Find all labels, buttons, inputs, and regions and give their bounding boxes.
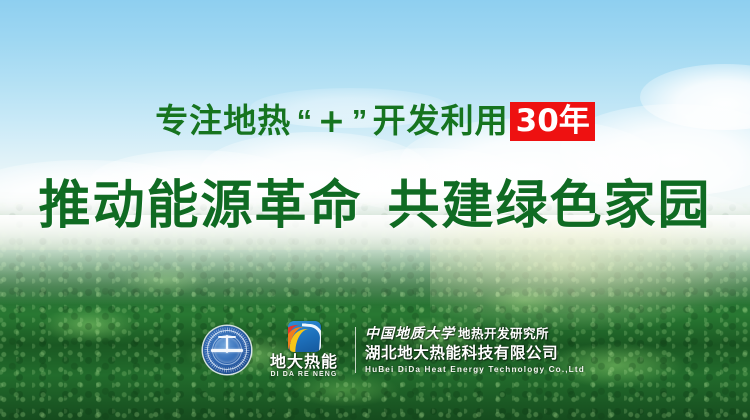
quote-close-mark: ” bbox=[351, 103, 369, 138]
company-name-cn: 湖北地大热能科技有限公司 bbox=[365, 343, 543, 363]
headline-line2-right: 共建绿色家园 bbox=[387, 176, 711, 236]
organization-text-block: 中国地质大学地热开发研究所 湖北地大热能科技有限公司 HuBei DiDa He… bbox=[365, 325, 543, 376]
footer-logo-strip: 地大热能 DI DA RE NENG 中国地质大学地热开发研究所 湖北地大热能科… bbox=[203, 320, 543, 380]
headline-line-1: 专注地热 “ + ” 开发利用30年 bbox=[0, 101, 750, 141]
headline-line1-part2: 开发利用 bbox=[373, 101, 509, 140]
institute-name: 地热开发研究所 bbox=[458, 326, 549, 341]
company-name-en: HuBei DiDa Heat Energy Technology Co.,Lt… bbox=[365, 363, 543, 376]
university-name: 中国地质大学 bbox=[365, 326, 455, 342]
quote-open-mark: “ bbox=[296, 103, 314, 138]
promotional-banner: 专注地热 “ + ” 开发利用30年 推动能源革命 共建绿色家园 bbox=[0, 0, 750, 420]
years-badge: 30年 bbox=[510, 102, 595, 141]
headline-line-2: 推动能源革命 共建绿色家园 bbox=[0, 163, 750, 238]
headline-line1-part1: 专注地热 bbox=[155, 101, 291, 140]
dida-brand-block: 地大热能 DI DA RE NENG bbox=[262, 321, 346, 379]
brand-name-cn: 地大热能 bbox=[270, 353, 338, 370]
university-seal-icon bbox=[203, 326, 251, 374]
dida-rainbow-icon bbox=[288, 321, 321, 352]
plus-symbol: + bbox=[318, 101, 347, 140]
footer-divider bbox=[355, 327, 356, 373]
org-line-1: 中国地质大学地热开发研究所 bbox=[365, 325, 543, 343]
headline-line2-left: 推动能源革命 bbox=[39, 176, 363, 236]
brand-name-pinyin: DI DA RE NENG bbox=[271, 370, 338, 379]
